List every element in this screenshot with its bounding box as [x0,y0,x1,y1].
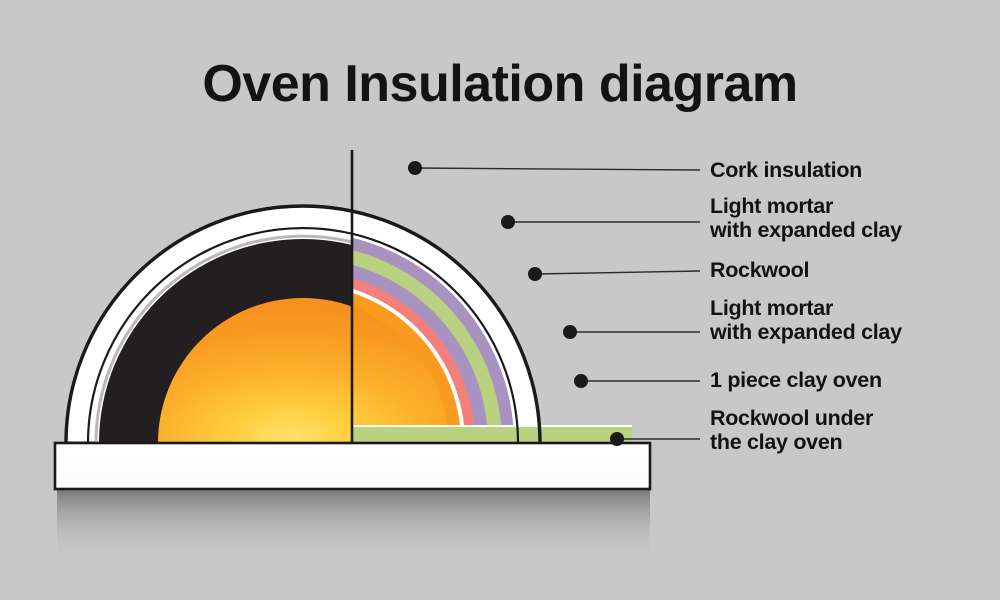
callout-label-light-mortar-expanded-clay-inner: Light mortar with expanded clay [710,296,902,345]
leader-dot-one-piece-clay-oven [574,374,588,388]
leader-line-rockwool [535,271,700,274]
diagram-stage: Oven Insulation diagram Cork insulationL… [0,0,1000,600]
leader-dot-cork-insulation [408,161,422,175]
leader-line-cork-insulation [415,168,700,170]
ground-shadow [57,487,650,573]
callout-label-rockwool: Rockwool [710,258,809,282]
callout-label-light-mortar-expanded-clay-outer: Light mortar with expanded clay [710,194,902,243]
leader-dot-light-mortar-expanded-clay-outer [501,215,515,229]
callout-label-one-piece-clay-oven: 1 piece clay oven [710,368,882,392]
leader-dot-light-mortar-expanded-clay-inner [563,325,577,339]
base-slab [55,443,650,489]
rockwool-under-oven-band [352,427,632,443]
callout-label-rockwool-under-clay-oven: Rockwool under the clay oven [710,406,873,455]
rockwool-under-oven-topline [352,425,632,427]
page-title: Oven Insulation diagram [0,54,1000,114]
callout-label-cork-insulation: Cork insulation [710,158,862,182]
leader-dot-rockwool-under-clay-oven [610,432,624,446]
leader-dot-rockwool [528,267,542,281]
